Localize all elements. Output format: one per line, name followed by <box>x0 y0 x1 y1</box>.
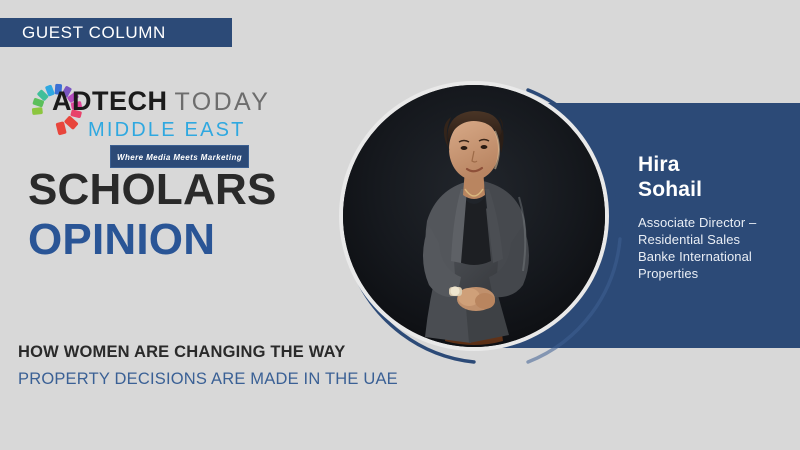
logo-wordmark-row: ADTECHTODAY <box>52 74 242 115</box>
headline-line-1: SCHOLARS <box>28 168 277 212</box>
guest-column-label: GUEST COLUMN <box>0 23 166 43</box>
logo-text: ADTECHTODAY MIDDLE EAST Where Media Meet… <box>52 74 242 168</box>
logo-adtech-text: ADTECH <box>52 86 168 116</box>
poster-canvas: GUEST COLUMN <box>0 0 800 450</box>
portrait-photo <box>343 85 605 347</box>
logo-region-text: MIDDLE EAST <box>88 119 242 142</box>
logo-today-text: TODAY <box>175 88 271 116</box>
portrait-photo-group <box>332 74 632 374</box>
logo-tagline-text: Where Media Meets Marketing <box>117 153 242 162</box>
headline: SCHOLARS OPINION <box>28 168 277 262</box>
adtech-today-logo: ADTECHTODAY MIDDLE EAST Where Media Meet… <box>26 74 236 156</box>
guest-column-banner: GUEST COLUMN <box>0 18 232 47</box>
person-info-text: Hira Sohail Associate Director – Residen… <box>638 153 793 283</box>
person-role: Associate Director – Residential Sales B… <box>638 214 793 283</box>
headline-line-2: OPINION <box>28 218 277 262</box>
person-name: Hira Sohail <box>638 153 793 203</box>
